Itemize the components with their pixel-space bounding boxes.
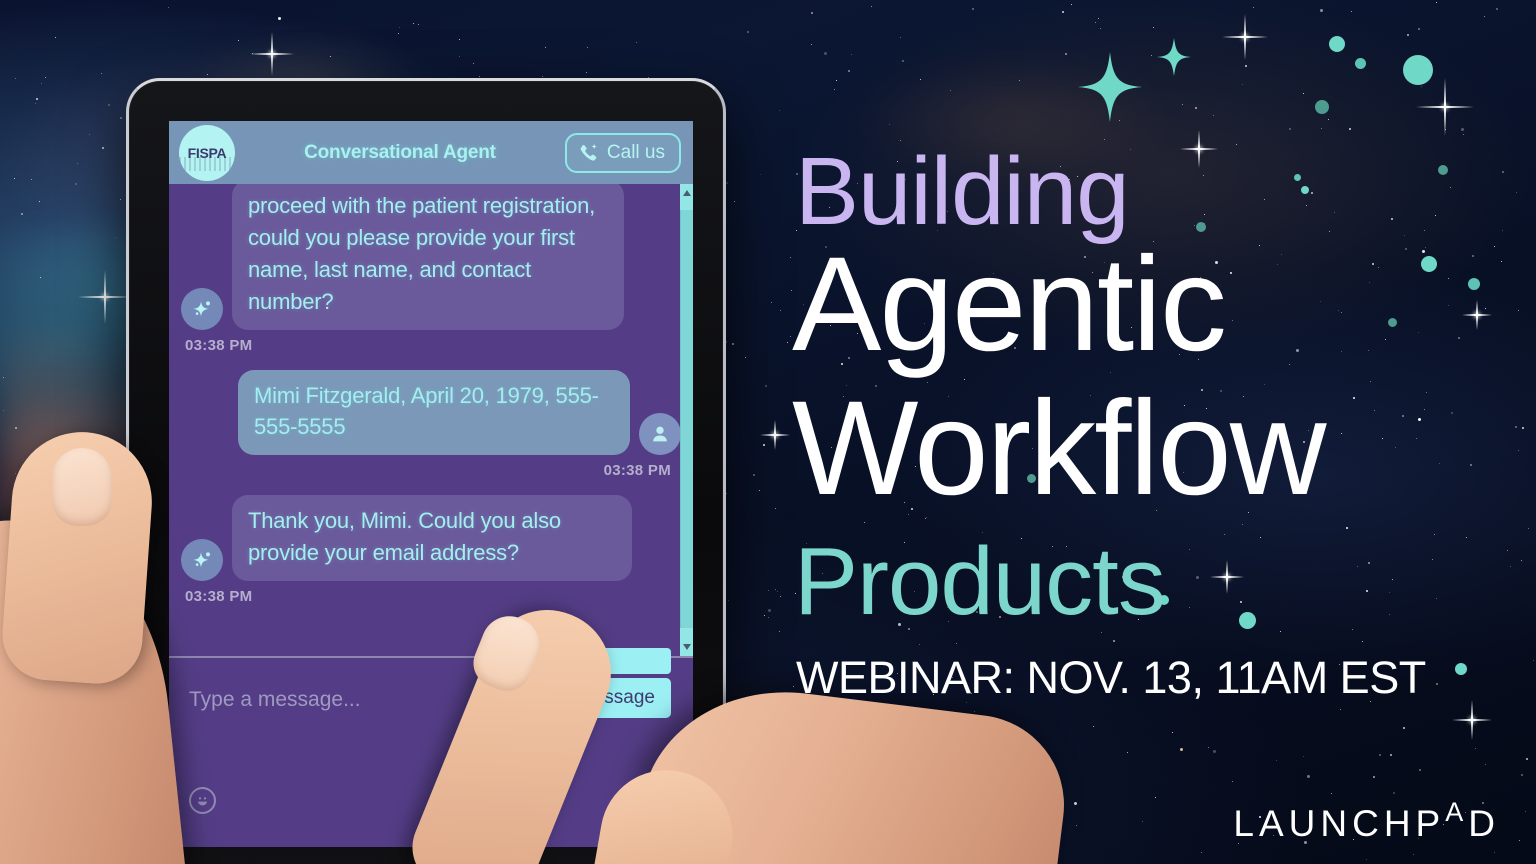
message-bubble-user: Mimi Fitzgerald, April 20, 1979, 555-555… bbox=[238, 370, 630, 456]
star-sparkle-icon bbox=[760, 420, 790, 450]
message-row-user: Mimi Fitzgerald, April 20, 1979, 555-555… bbox=[181, 370, 681, 456]
launchpad-logo-superscript-a: A bbox=[1445, 799, 1468, 826]
message-input[interactable]: Type a message... bbox=[189, 688, 361, 712]
logo-wave-decoration bbox=[179, 157, 235, 171]
message-row-agent: proceed with the patient registration, c… bbox=[181, 184, 681, 330]
message-bubble-agent: proceed with the patient registration, c… bbox=[232, 184, 624, 330]
message-bubble-agent: Thank you, Mimi. Could you also provide … bbox=[232, 495, 632, 581]
sparkle-icon bbox=[190, 548, 214, 572]
promo-line-workflow: Workflow bbox=[792, 382, 1325, 516]
phone-plus-icon bbox=[578, 142, 600, 164]
promo-line-products: Products bbox=[794, 534, 1165, 630]
tablet-screen: FISPA Conversational Agent Call us bbox=[169, 121, 693, 847]
agent-avatar bbox=[181, 539, 223, 581]
chat-scrollbar[interactable] bbox=[680, 184, 693, 656]
tablet-device: FISPA Conversational Agent Call us bbox=[126, 78, 726, 864]
launchpad-logo: LAUNCHP A D bbox=[1233, 805, 1500, 842]
agent-avatar bbox=[181, 288, 223, 330]
call-us-button[interactable]: Call us bbox=[565, 133, 681, 173]
poster-canvas: FISPA Conversational Agent Call us bbox=[0, 0, 1536, 864]
left-thumbnail bbox=[52, 448, 112, 526]
promo-line-building: Building bbox=[795, 144, 1129, 240]
chat-header: FISPA Conversational Agent Call us bbox=[169, 121, 693, 184]
chat-scrollbar-thumb[interactable] bbox=[680, 210, 693, 628]
caret-up-icon[interactable] bbox=[683, 190, 691, 196]
promo-line-agentic: Agentic bbox=[792, 238, 1225, 372]
message-list[interactable]: proceed with the patient registration, c… bbox=[169, 184, 693, 656]
webinar-details: WEBINAR: NOV. 13, 11AM EST bbox=[796, 655, 1426, 700]
smiley-glyph bbox=[194, 792, 211, 809]
promo-copy: Building Agentic Workflow Products WEBIN… bbox=[790, 0, 1536, 864]
chat-title: Conversational Agent bbox=[245, 142, 555, 164]
caret-down-icon[interactable] bbox=[683, 644, 691, 650]
launchpad-logo-tail: D bbox=[1468, 805, 1500, 842]
message-timestamp: 03:38 PM bbox=[185, 588, 681, 605]
message-timestamp: 03:38 PM bbox=[185, 337, 681, 354]
message-row-agent: Thank you, Mimi. Could you also provide … bbox=[181, 495, 681, 581]
sparkle-icon bbox=[190, 297, 214, 321]
person-icon bbox=[649, 423, 671, 445]
star-sparkle-icon bbox=[78, 270, 132, 324]
smiley-icon[interactable] bbox=[189, 787, 216, 814]
star-sparkle-icon bbox=[250, 32, 294, 76]
call-us-label: Call us bbox=[607, 142, 665, 164]
user-avatar bbox=[639, 413, 681, 455]
launchpad-logo-main: LAUNCHP bbox=[1233, 805, 1445, 842]
message-timestamp: 03:38 PM bbox=[181, 462, 671, 479]
fispa-logo: FISPA bbox=[179, 125, 235, 181]
